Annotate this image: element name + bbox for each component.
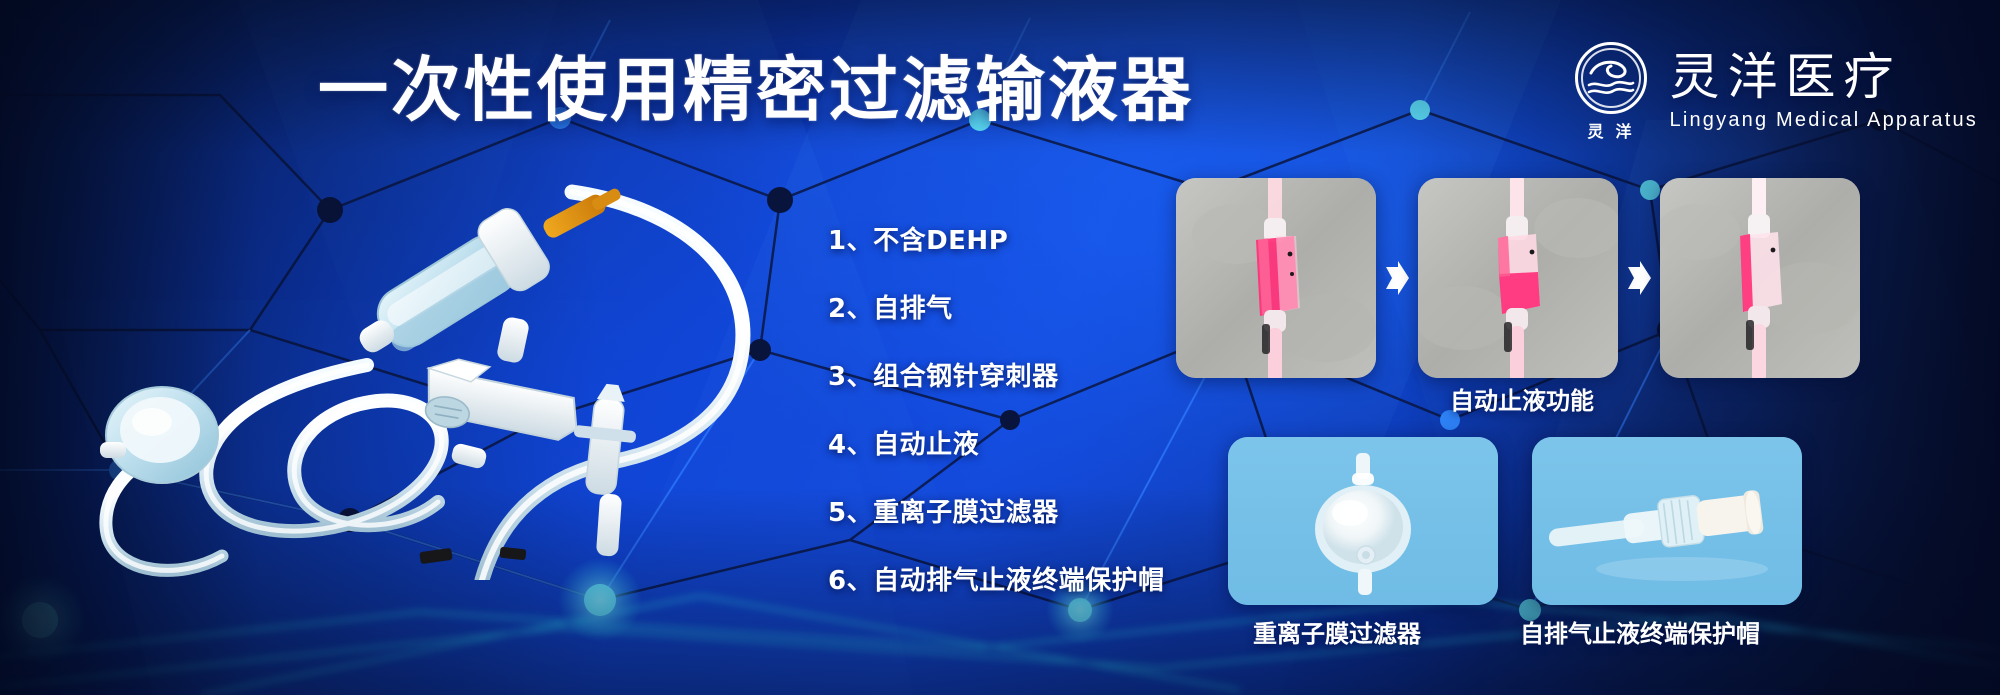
auto-stop-step-sequence xyxy=(1176,178,1860,378)
feature-item-1: 1、不含DEHP xyxy=(828,226,1188,256)
chamber-half-photo xyxy=(1418,178,1618,378)
registered-trademark-icon: ® xyxy=(1636,47,1646,60)
protective-cap-photo xyxy=(1532,437,1802,605)
chamber-full-photo xyxy=(1176,178,1376,378)
brand-name-cn: 灵洋医疗 xyxy=(1670,49,1978,105)
step-arrow-2 xyxy=(1618,261,1660,295)
feature-item-4: 4、自动止液 xyxy=(828,430,1188,460)
brand-mark: ® 灵洋 xyxy=(1570,42,1652,142)
step-photo-3 xyxy=(1660,178,1860,378)
arrow-right-icon xyxy=(1384,261,1410,295)
chamber-empty-photo xyxy=(1660,178,1860,378)
infusion-set-illustration xyxy=(52,150,772,580)
brand-wordmark: 灵洋医疗 Lingyang Medical Apparatus xyxy=(1670,49,1978,135)
step-photo-1 xyxy=(1176,178,1376,378)
membrane-filter-photo xyxy=(1228,437,1498,605)
feature-list: 1、不含DEHP 2、自排气 3、组合钢针穿刺器 4、自动止液 5、重离子膜过滤… xyxy=(828,226,1188,596)
arrow-right-icon xyxy=(1626,261,1652,295)
feature-item-6: 6、自动排气止液终端保护帽 xyxy=(828,566,1188,596)
lingyang-emblem-icon: ® xyxy=(1575,42,1647,114)
caption-membrane-filter: 重离子膜过滤器 xyxy=(1253,620,1421,648)
brand-name-en: Lingyang Medical Apparatus xyxy=(1670,107,1978,133)
feature-item-5: 5、重离子膜过滤器 xyxy=(828,498,1188,528)
detail-photo-pair xyxy=(1228,437,1802,605)
detail-photo-filter xyxy=(1228,437,1498,605)
brand-mark-caption: 灵洋 xyxy=(1570,118,1652,142)
step-arrow-1 xyxy=(1376,261,1418,295)
hero-product-photo xyxy=(52,150,772,580)
wave-swirl-icon xyxy=(1585,57,1637,99)
detail-photo-cap xyxy=(1532,437,1802,605)
caption-protective-cap: 自排气止液终端保护帽 xyxy=(1520,620,1760,648)
product-banner: 一次性使用精密过滤输液器 ® 灵洋 灵洋医疗 Lingyang Medical … xyxy=(0,0,2000,695)
page-title: 一次性使用精密过滤输液器 xyxy=(318,48,1318,132)
step-photo-2 xyxy=(1418,178,1618,378)
feature-item-2: 2、自排气 xyxy=(828,294,1188,324)
brand-logo: ® 灵洋 灵洋医疗 Lingyang Medical Apparatus xyxy=(1570,42,1978,142)
caption-auto-stop: 自动止液功能 xyxy=(1450,387,1594,415)
feature-item-3: 3、组合钢针穿刺器 xyxy=(828,362,1188,392)
membrane-filter-part xyxy=(100,387,218,483)
